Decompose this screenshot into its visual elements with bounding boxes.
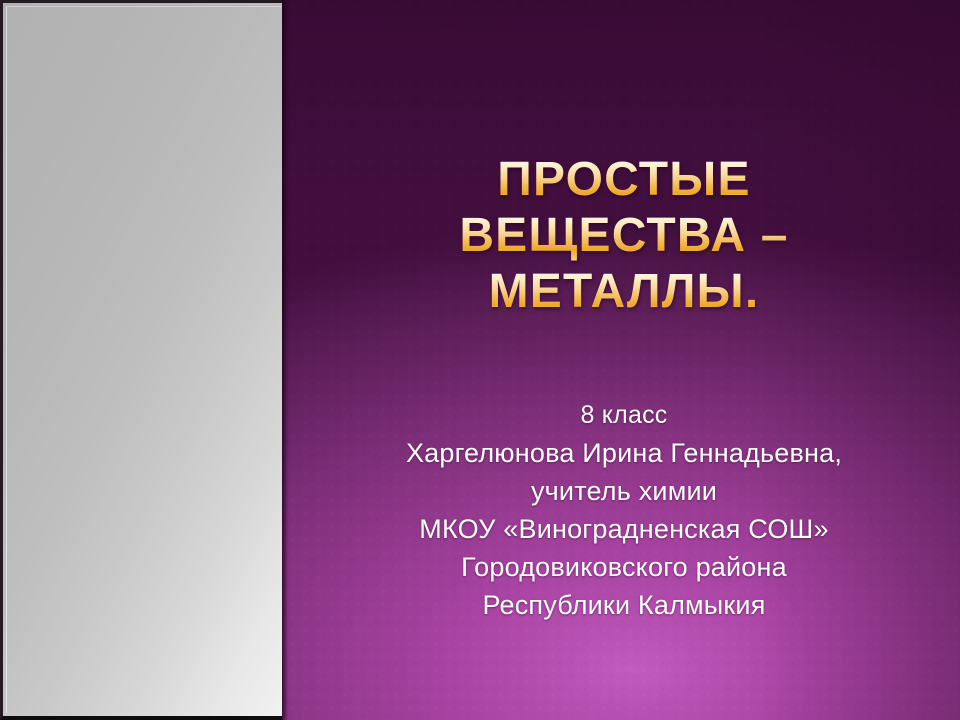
subtitle-line-grade: 8 класс: [300, 396, 948, 434]
subtitle-line-district: Городовиковского района: [300, 548, 948, 586]
subtitle-line-author-name: Харгелюнова Ирина Геннадьевна,: [300, 434, 948, 472]
slide-content-column: ПРОСТЫЕ ВЕЩЕСТВА – МЕТАЛЛЫ. 8 класс Харг…: [288, 0, 960, 720]
slide-subtitle: 8 класс Харгелюнова Ирина Геннадьевна, у…: [288, 396, 960, 624]
title-line-3: МЕТАЛЛЫ.: [312, 264, 936, 320]
subtitle-line-author-role: учитель химии: [300, 472, 948, 510]
left-grey-panel: [0, 0, 282, 720]
title-line-1: ПРОСТЫЕ: [312, 152, 936, 208]
title-line-2: ВЕЩЕСТВА –: [312, 208, 936, 264]
subtitle-line-school: МКОУ «Виноградненская СОШ»: [300, 510, 948, 548]
presentation-slide: ПРОСТЫЕ ВЕЩЕСТВА – МЕТАЛЛЫ. 8 класс Харг…: [0, 0, 960, 720]
slide-title: ПРОСТЫЕ ВЕЩЕСТВА – МЕТАЛЛЫ.: [288, 152, 960, 320]
panel-inner-hairline: [6, 6, 282, 713]
subtitle-line-republic: Республики Калмыкия: [300, 586, 948, 624]
